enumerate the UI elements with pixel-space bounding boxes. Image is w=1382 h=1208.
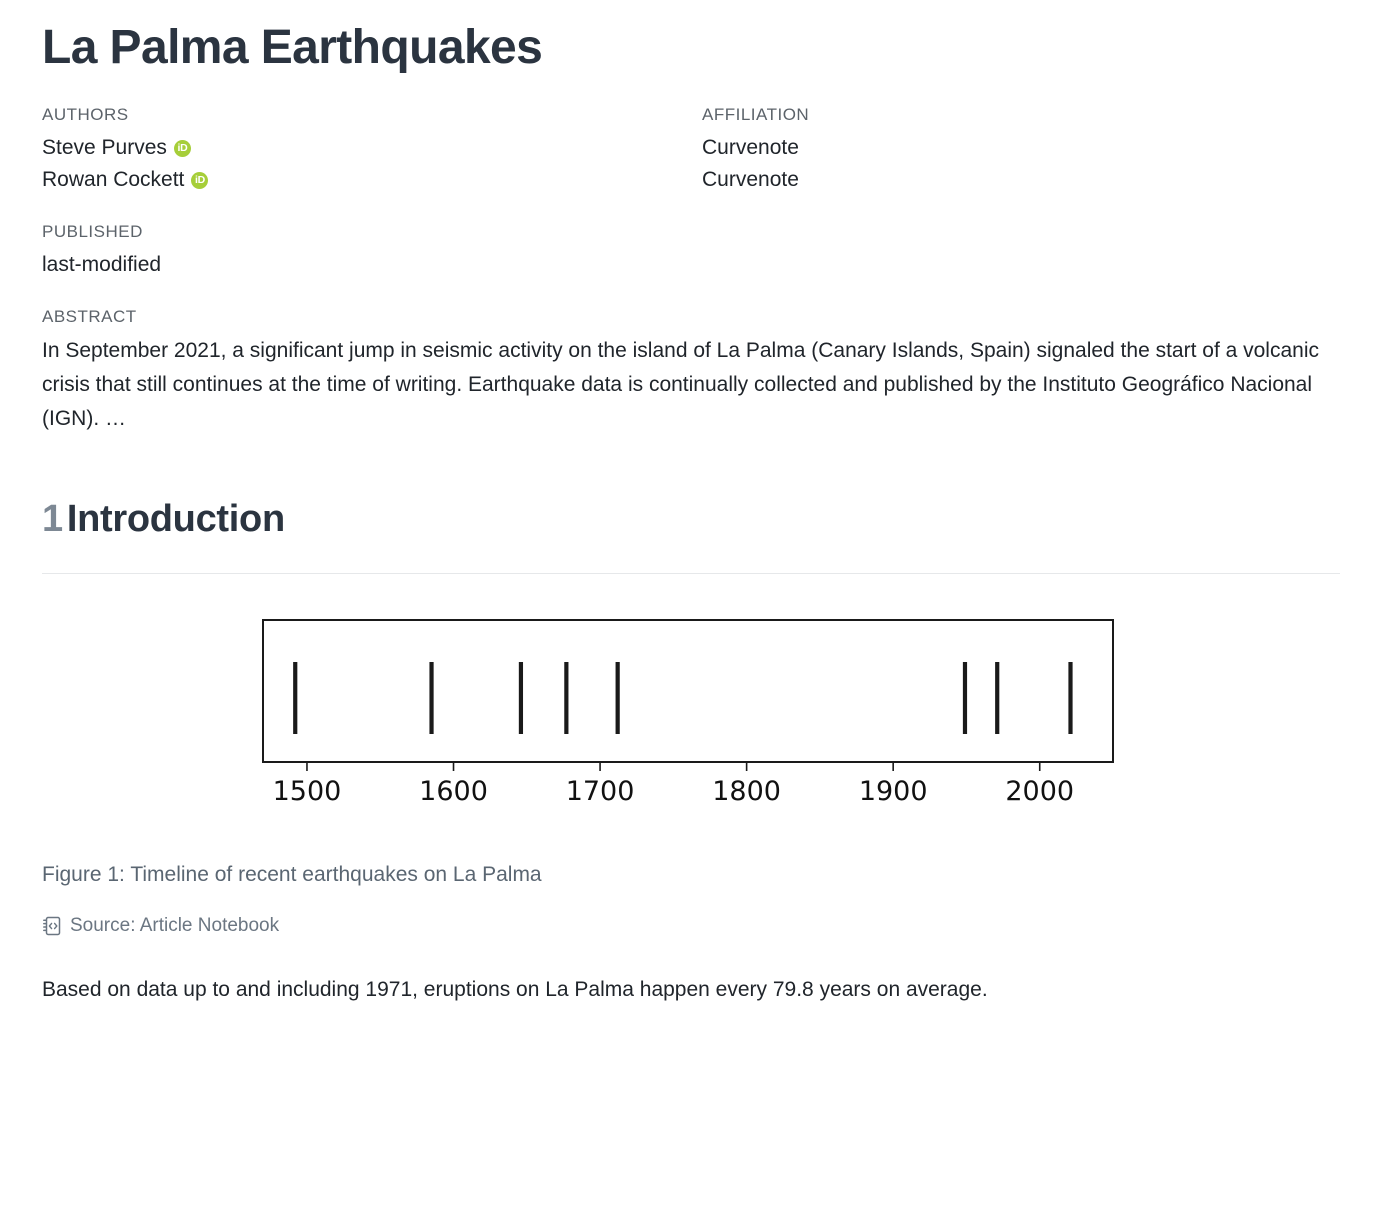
- author-name: Steve Purves: [42, 132, 167, 164]
- document-page: La Palma Earthquakes AUTHORS Steve Purve…: [0, 0, 1382, 1007]
- x-axis-tick-label: 1600: [419, 776, 488, 807]
- page-title: La Palma Earthquakes: [42, 22, 1340, 75]
- section-number: 1: [42, 498, 63, 540]
- figure-caption: Figure 1: Timeline of recent earthquakes…: [42, 860, 542, 889]
- affiliation-value: Curvenote: [702, 132, 1340, 164]
- body-paragraph: Based on data up to and including 1971, …: [42, 973, 1332, 1007]
- author-name: Rowan Cockett: [42, 164, 184, 196]
- x-axis-tick-label: 1700: [566, 776, 635, 807]
- section-divider: [42, 573, 1340, 574]
- timeline-chart: 150016001700180019002000: [251, 612, 1131, 812]
- author-entry: Rowan Cockett iD: [42, 164, 702, 196]
- abstract-text: In September 2021, a significant jump in…: [42, 334, 1340, 436]
- figure-source[interactable]: Source: Article Notebook: [42, 915, 279, 937]
- chart-frame: [263, 620, 1113, 762]
- section-title: Introduction: [67, 498, 285, 540]
- orcid-icon[interactable]: iD: [191, 172, 208, 189]
- x-axis-tick-label: 1500: [273, 776, 342, 807]
- authors-column: AUTHORS Steve Purves iD Rowan Cockett iD: [42, 105, 702, 196]
- notebook-code-icon: [42, 915, 62, 937]
- article-metadata: AUTHORS Steve Purves iD Rowan Cockett iD…: [42, 105, 1340, 196]
- published-value: last-modified: [42, 249, 1340, 281]
- affiliation-label: AFFILIATION: [702, 105, 1340, 125]
- orcid-icon[interactable]: iD: [174, 140, 191, 157]
- author-entry: Steve Purves iD: [42, 132, 702, 164]
- affiliation-column: AFFILIATION Curvenote Curvenote: [702, 105, 1340, 196]
- published-label: PUBLISHED: [42, 222, 1340, 242]
- affiliation-value: Curvenote: [702, 164, 1340, 196]
- timeline-chart-svg: 150016001700180019002000: [251, 612, 1131, 812]
- abstract-block: ABSTRACT In September 2021, a significan…: [42, 307, 1340, 436]
- section-heading-introduction: 1Introduction: [42, 498, 1340, 542]
- figure-1: 150016001700180019002000 Figure 1: Timel…: [42, 612, 1340, 937]
- abstract-label: ABSTRACT: [42, 307, 1340, 327]
- x-axis-tick-label: 1900: [859, 776, 928, 807]
- published-block: PUBLISHED last-modified: [42, 222, 1340, 281]
- x-axis-tick-label: 2000: [1005, 776, 1074, 807]
- x-axis-tick-label: 1800: [712, 776, 781, 807]
- figure-source-label: Source: Article Notebook: [70, 915, 279, 937]
- authors-label: AUTHORS: [42, 105, 702, 125]
